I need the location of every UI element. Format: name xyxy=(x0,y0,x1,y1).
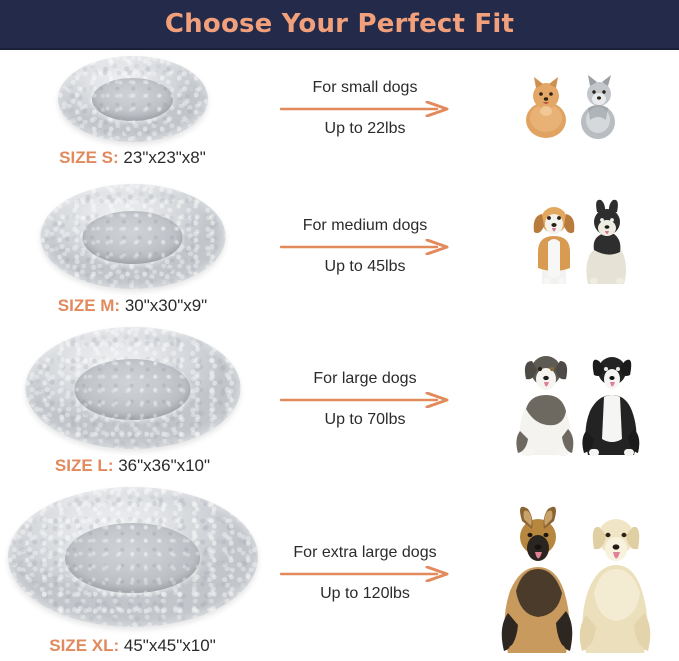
arrow-caption-s: For small dogs xyxy=(265,78,465,98)
bed-inner-cushion xyxy=(65,523,200,593)
arrow-weight-l: Up to 70lbs xyxy=(265,410,465,430)
size-tag-m: SIZE M: xyxy=(58,296,120,315)
bed-column-s: SIZE S: 23"x23"x8" xyxy=(0,50,265,178)
small-dogs-illustration xyxy=(512,68,632,140)
arrow-block-l: For large dogs Up to 70lbs xyxy=(265,369,465,430)
dogs-column-l xyxy=(465,321,679,481)
bed-column-m: SIZE M: 30"x30"x9" xyxy=(0,178,265,321)
round-pet-bed-icon xyxy=(8,487,258,627)
bed-outer-rim xyxy=(58,56,208,142)
bed-outer-rim xyxy=(8,487,258,627)
australian-shepherd-icon xyxy=(516,356,573,456)
size-row-s: SIZE S: 23"x23"x8" For small dogs Up to … xyxy=(0,50,679,178)
medium-dogs-illustration xyxy=(502,192,642,288)
right-arrow-icon xyxy=(275,101,455,117)
bed-column-l: SIZE L: 36"x36"x10" xyxy=(0,321,265,481)
right-arrow-icon xyxy=(275,566,455,582)
arrow-weight-s: Up to 22lbs xyxy=(265,119,465,139)
extra-large-dogs-photo xyxy=(482,495,662,657)
size-label-s: SIZE S: 23"x23"x8" xyxy=(0,148,265,168)
border-collie-icon xyxy=(582,357,639,456)
right-arrow-icon xyxy=(275,239,455,255)
page-title: Choose Your Perfect Fit xyxy=(165,9,514,39)
round-pet-bed-icon xyxy=(58,56,208,142)
extra-large-dogs-illustration xyxy=(482,495,662,657)
bed-inner-cushion xyxy=(92,78,173,121)
size-tag-s: SIZE S: xyxy=(59,148,119,167)
bed-outer-rim xyxy=(25,327,240,449)
dogs-column-m xyxy=(465,178,679,321)
arrow-caption-l: For large dogs xyxy=(265,369,465,389)
arrow-caption-m: For medium dogs xyxy=(265,216,465,236)
golden-retriever-icon xyxy=(580,519,651,653)
round-pet-bed-icon xyxy=(40,184,225,289)
german-shepherd-icon xyxy=(502,507,573,653)
size-row-m: SIZE M: 30"x30"x9" For medium dogs Up to… xyxy=(0,178,679,321)
arrow-column-xl: For extra large dogs Up to 120lbs xyxy=(265,481,465,661)
right-arrow-icon xyxy=(275,392,455,408)
pomeranian-icon xyxy=(526,77,566,138)
dogs-column-xl xyxy=(465,481,679,661)
arrow-caption-xl: For extra large dogs xyxy=(265,543,465,563)
bed-inner-cushion xyxy=(74,359,190,420)
arrow-block-s: For small dogs Up to 22lbs xyxy=(265,78,465,139)
size-chart: SIZE S: 23"x23"x8" For small dogs Up to … xyxy=(0,50,679,661)
arrow-weight-xl: Up to 120lbs xyxy=(265,584,465,604)
size-dimensions-m: 30"x30"x9" xyxy=(125,296,207,315)
size-tag-l: SIZE L: xyxy=(55,456,114,475)
french-bulldog-icon xyxy=(586,200,626,284)
size-row-xl: SIZE XL: 45"x45"x10" For extra large dog… xyxy=(0,481,679,661)
arrow-block-xl: For extra large dogs Up to 120lbs xyxy=(265,543,465,604)
size-row-l: SIZE L: 36"x36"x10" For large dogs Up to… xyxy=(0,321,679,481)
arrow-column-m: For medium dogs Up to 45lbs xyxy=(265,178,465,321)
round-pet-bed-icon xyxy=(25,327,240,449)
beagle-icon xyxy=(534,207,575,284)
size-dimensions-s: 23"x23"x8" xyxy=(123,148,205,167)
medium-dogs-photo xyxy=(502,192,642,288)
yorkshire-terrier-icon xyxy=(581,75,615,139)
bed-inner-cushion xyxy=(83,211,183,264)
small-dogs-photo xyxy=(512,68,632,140)
arrow-weight-m: Up to 45lbs xyxy=(265,257,465,277)
size-dimensions-xl: 45"x45"x10" xyxy=(124,636,216,655)
large-dogs-photo xyxy=(492,339,652,459)
size-label-xl: SIZE XL: 45"x45"x10" xyxy=(0,636,265,656)
arrow-column-s: For small dogs Up to 22lbs xyxy=(265,50,465,178)
size-dimensions-l: 36"x36"x10" xyxy=(118,456,210,475)
bed-outer-rim xyxy=(40,184,225,289)
bed-column-xl: SIZE XL: 45"x45"x10" xyxy=(0,481,265,661)
arrow-column-l: For large dogs Up to 70lbs xyxy=(265,321,465,481)
size-label-l: SIZE L: 36"x36"x10" xyxy=(0,456,265,476)
page-header: Choose Your Perfect Fit xyxy=(0,0,679,50)
large-dogs-illustration xyxy=(492,339,652,459)
arrow-block-m: For medium dogs Up to 45lbs xyxy=(265,216,465,277)
dogs-column-s xyxy=(465,50,679,178)
size-label-m: SIZE M: 30"x30"x9" xyxy=(0,296,265,316)
size-tag-xl: SIZE XL: xyxy=(49,636,119,655)
